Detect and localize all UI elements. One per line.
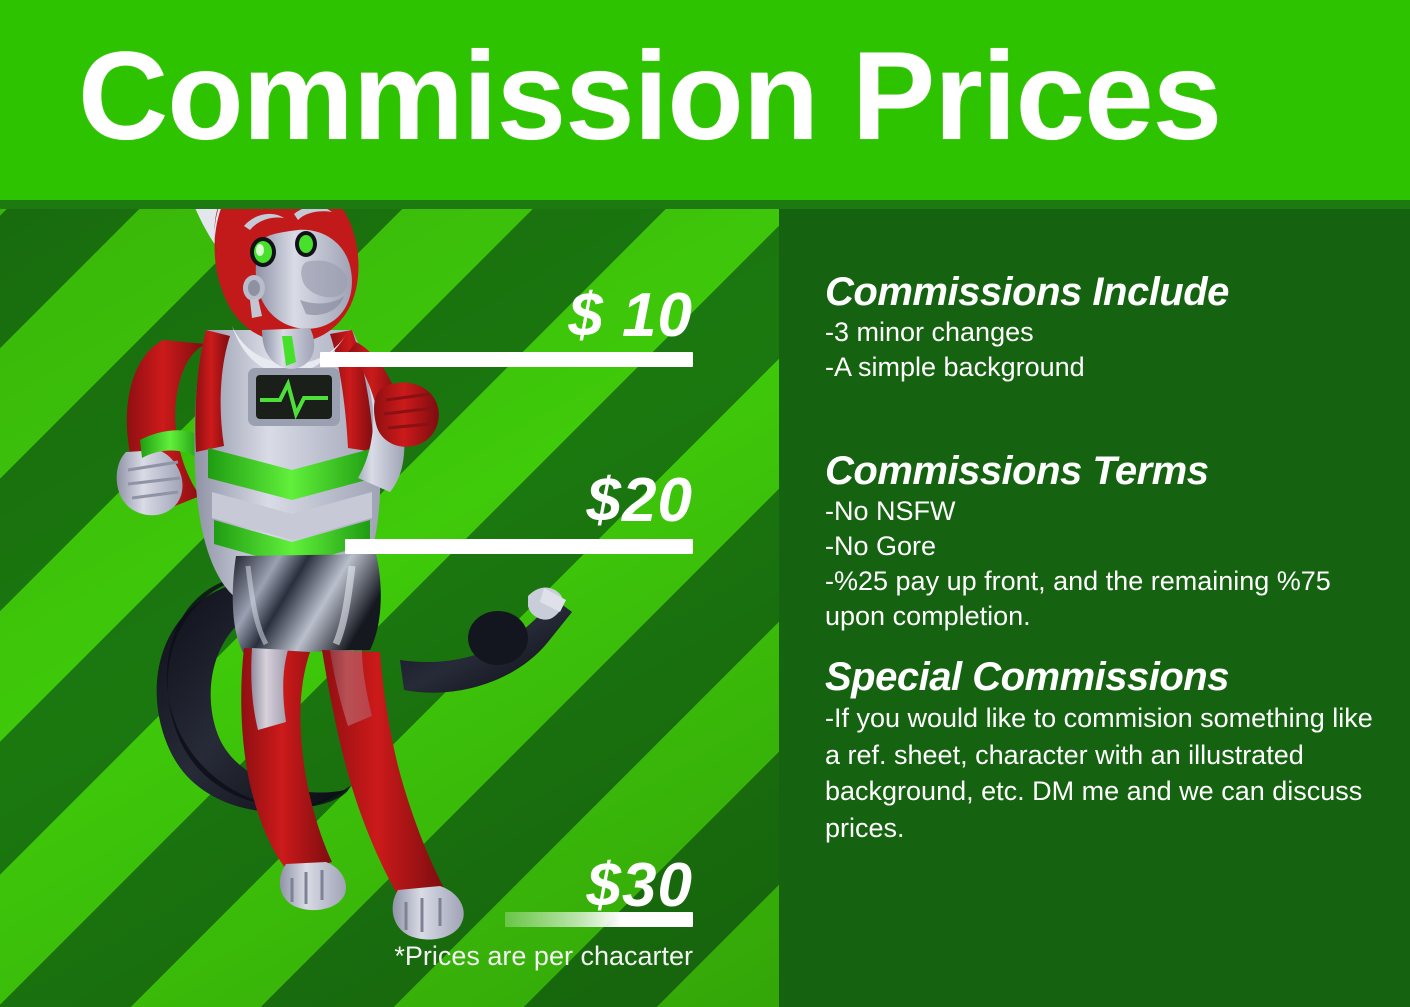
section-commissions-include: Commissions Include -3 minor changes -A … [825, 271, 1385, 385]
section-line: -If you would like to commision somethin… [825, 700, 1385, 847]
left-paw [280, 862, 346, 910]
commission-prices-poster: $ 10 $20 $30 *Prices are per chacarter C… [0, 0, 1410, 1007]
right-fist [374, 383, 439, 447]
header-bottom-rule [0, 200, 1410, 209]
price-footnote: *Prices are per chacarter [330, 942, 693, 972]
page-title: Commission Prices [78, 34, 1221, 159]
section-line: -No Gore [825, 529, 1385, 564]
price-label-30: $30 [440, 855, 693, 917]
section-line: -No NSFW [825, 494, 1385, 529]
info-panel: Commissions Include -3 minor changes -A … [779, 209, 1410, 1007]
price-divider-10 [320, 352, 693, 367]
section-heading: Commissions Terms [825, 450, 1385, 492]
section-heading: Special Commissions [825, 656, 1385, 698]
section-line: -A simple background [825, 350, 1385, 385]
section-line: -3 minor changes [825, 315, 1385, 350]
section-heading: Commissions Include [825, 271, 1385, 313]
section-special-commissions: Special Commissions -If you would like t… [825, 656, 1385, 847]
price-label-10: $ 10 [440, 285, 693, 347]
price-divider-30 [505, 912, 693, 927]
section-line: -%25 pay up front, and the remaining %75… [825, 564, 1385, 634]
price-label-20: $20 [440, 470, 693, 532]
section-commissions-terms: Commissions Terms -No NSFW -No Gore -%25… [825, 450, 1385, 634]
price-divider-20 [345, 539, 693, 554]
